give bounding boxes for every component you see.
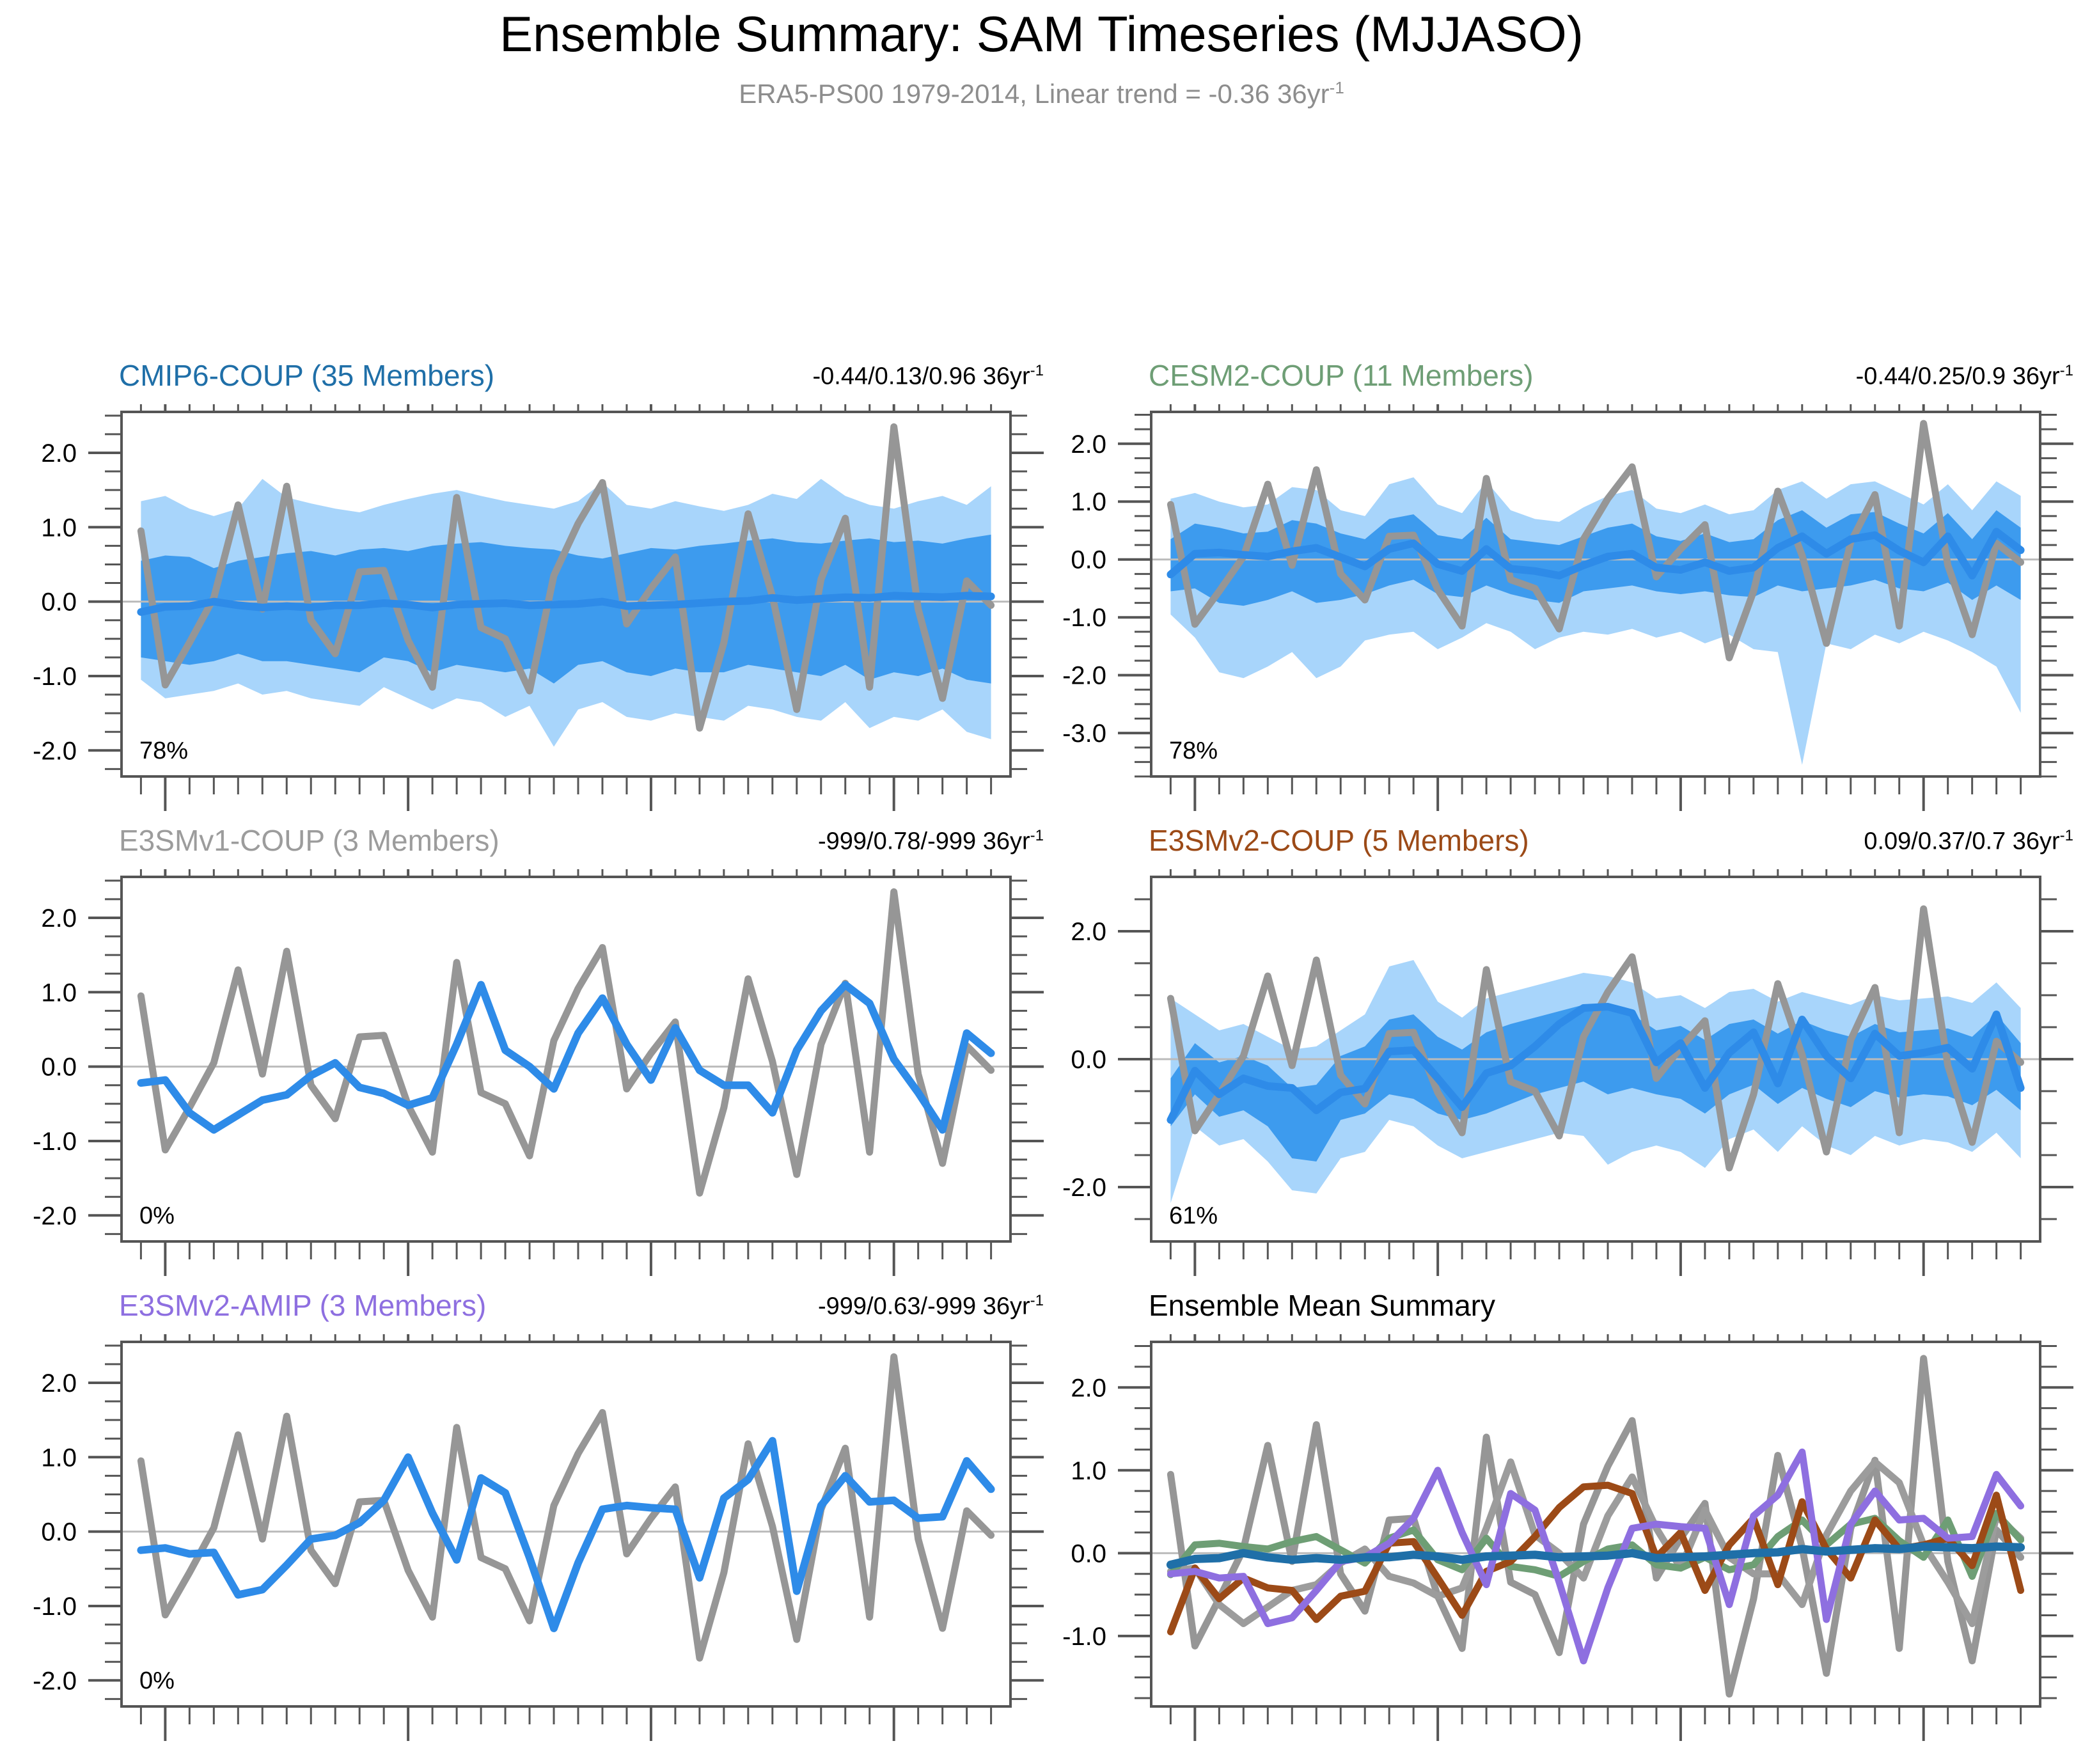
panel-trend-value-cesm2: -0.44/0.25/0.9 36yr: [1856, 363, 2060, 390]
series-line-ensemble-mean: [141, 1441, 991, 1628]
agreement-percent-cmip6: 78%: [139, 737, 188, 764]
plot-clip-mask: [26, 1706, 1049, 1749]
subtitle-superscript: -1: [1330, 78, 1344, 97]
agreement-percent-cesm2: 78%: [1169, 737, 1218, 764]
y-tick-label: 1.0: [1071, 488, 1106, 516]
panel-cmip6: CMIP6-COUP (35 Members)-0.44/0.13/0.96 3…: [26, 358, 1049, 819]
plot-clip-mask: [26, 1241, 1049, 1284]
panel-grid: CMIP6-COUP (35 Members)-0.44/0.13/0.96 3…: [0, 358, 2083, 1752]
panel-header-e3smv2amip: E3SMv2-AMIP (3 Members)-999/0.63/-999 36…: [26, 1288, 1049, 1334]
plot-clip-mask: [2040, 404, 2079, 819]
page-subtitle: ERA5-PS00 1979-2014, Linear trend = -0.3…: [0, 78, 2083, 109]
page-title: Ensemble Summary: SAM Timeseries (MJJASO…: [0, 5, 2083, 63]
panel-e3smv1: E3SMv1-COUP (3 Members)-999/0.78/-999 36…: [26, 823, 1049, 1284]
y-tick-label: 0.0: [41, 1053, 77, 1082]
panel-trend-e3smv2amip: -999/0.63/-999 36yr-1: [818, 1292, 1044, 1321]
y-tick-label: -2.0: [1062, 662, 1106, 690]
panel-trend-e3smv2coup: 0.09/0.37/0.7 36yr-1: [1864, 827, 2073, 856]
panel-header-cmip6: CMIP6-COUP (35 Members)-0.44/0.13/0.96 3…: [26, 358, 1049, 404]
y-tick-label: 0.0: [1071, 546, 1106, 574]
y-tick-label: -1.0: [33, 1128, 77, 1156]
plot-clip-mask: [1055, 1241, 2079, 1284]
plot-clip-mask: [26, 776, 1049, 819]
panel-trend-superscript-e3smv2coup: -1: [2060, 827, 2073, 844]
plot-area-cmip6: 2.01.00.0-1.0-2.0198019902000201078%: [26, 404, 1049, 819]
plot-area-cesm2: 2.01.00.0-1.0-2.0-3.0198019902000201078%: [1055, 404, 2079, 819]
panel-title-cesm2: CESM2-COUP (11 Members): [1149, 358, 1534, 393]
y-tick-label: -2.0: [33, 1202, 77, 1230]
y-tick-label: -2.0: [1062, 1174, 1106, 1202]
panel-summary: Ensemble Mean Summary2.01.00.0-1.0198019…: [1055, 1288, 2079, 1749]
agreement-percent-e3smv2coup: 61%: [1169, 1202, 1218, 1229]
y-tick-label: 0.0: [41, 1518, 77, 1547]
agreement-percent-e3smv2amip: 0%: [139, 1667, 175, 1694]
plot-area-e3smv1: 2.01.00.0-1.0-2.019801990200020100%: [26, 869, 1049, 1284]
y-tick-label: 1.0: [41, 979, 77, 1007]
y-tick-label: 0.0: [1071, 1540, 1106, 1568]
y-tick-label: -1.0: [1062, 604, 1106, 632]
plot-area-summary: 2.01.00.0-1.01980199020002010: [1055, 1334, 2079, 1749]
panel-trend-superscript-e3smv1: -1: [1030, 827, 1044, 844]
panel-trend-cmip6: -0.44/0.13/0.96 36yr-1: [813, 362, 1044, 391]
y-tick-label: -1.0: [33, 663, 77, 691]
y-tick-label: -2.0: [33, 1667, 77, 1695]
subtitle-text: ERA5-PS00 1979-2014, Linear trend = -0.3…: [739, 79, 1329, 109]
series-line-observations: [141, 1357, 991, 1658]
plot-area-e3smv2amip: 2.01.00.0-1.0-2.019801990200020100%: [26, 1334, 1049, 1749]
panel-trend-superscript-cesm2: -1: [2060, 362, 2073, 379]
y-tick-label: -1.0: [1062, 1623, 1106, 1651]
panel-trend-value-e3smv2coup: 0.09/0.37/0.7 36yr: [1864, 828, 2059, 855]
panel-header-cesm2: CESM2-COUP (11 Members)-0.44/0.25/0.9 36…: [1055, 358, 2079, 404]
plot-clip-mask: [1055, 1706, 2079, 1749]
y-tick-label: 2.0: [1071, 430, 1106, 459]
y-tick-label: 1.0: [1071, 1457, 1106, 1485]
y-tick-label: 2.0: [41, 439, 77, 468]
panel-cesm2: CESM2-COUP (11 Members)-0.44/0.25/0.9 36…: [1055, 358, 2079, 819]
panel-trend-cesm2: -0.44/0.25/0.9 36yr-1: [1856, 362, 2073, 391]
panel-e3smv2amip: E3SMv2-AMIP (3 Members)-999/0.63/-999 36…: [26, 1288, 1049, 1749]
panel-header-e3smv2coup: E3SMv2-COUP (5 Members)0.09/0.37/0.7 36y…: [1055, 823, 2079, 869]
panel-title-summary: Ensemble Mean Summary: [1149, 1288, 1495, 1323]
panel-title-e3smv1: E3SMv1-COUP (3 Members): [119, 823, 499, 858]
y-tick-label: 2.0: [1071, 1374, 1106, 1402]
y-tick-label: 1.0: [41, 1444, 77, 1472]
plot-area-e3smv2coup: 2.00.0-2.0198019902000201061%: [1055, 869, 2079, 1284]
series-line-observations: [141, 892, 991, 1193]
panel-header-summary: Ensemble Mean Summary: [1055, 1288, 2079, 1334]
panel-e3smv2coup: E3SMv2-COUP (5 Members)0.09/0.37/0.7 36y…: [1055, 823, 2079, 1284]
plot-clip-mask: [1010, 1334, 1049, 1749]
y-tick-label: 1.0: [41, 514, 77, 542]
y-tick-label: 0.0: [1071, 1046, 1106, 1074]
panel-trend-value-e3smv1: -999/0.78/-999 36yr: [818, 828, 1030, 855]
panel-trend-superscript-cmip6: -1: [1030, 362, 1044, 379]
panel-title-cmip6: CMIP6-COUP (35 Members): [119, 358, 494, 393]
y-tick-label: 2.0: [41, 904, 77, 933]
y-tick-label: -3.0: [1062, 720, 1106, 748]
panel-trend-e3smv1: -999/0.78/-999 36yr-1: [818, 827, 1044, 856]
y-tick-label: 2.0: [1071, 918, 1106, 946]
plot-clip-mask: [1055, 776, 2079, 819]
panel-trend-value-e3smv2amip: -999/0.63/-999 36yr: [818, 1293, 1030, 1320]
plot-clip-mask: [2040, 1334, 2079, 1749]
y-tick-label: -2.0: [33, 737, 77, 765]
agreement-percent-e3smv1: 0%: [139, 1202, 175, 1229]
y-tick-label: 0.0: [41, 588, 77, 617]
panel-title-e3smv2amip: E3SMv2-AMIP (3 Members): [119, 1288, 486, 1323]
panel-trend-superscript-e3smv2amip: -1: [1030, 1292, 1044, 1309]
plot-clip-mask: [1010, 404, 1049, 819]
panel-title-e3smv2coup: E3SMv2-COUP (5 Members): [1149, 823, 1529, 858]
y-tick-label: 2.0: [41, 1369, 77, 1398]
y-tick-label: -1.0: [33, 1593, 77, 1621]
panel-trend-value-cmip6: -0.44/0.13/0.96 36yr: [813, 363, 1030, 390]
chart-page: Ensemble Summary: SAM Timeseries (MJJASO…: [0, 0, 2083, 1764]
plot-clip-mask: [1010, 869, 1049, 1284]
series-line-observations: [1170, 1358, 2020, 1694]
panel-header-e3smv1: E3SMv1-COUP (3 Members)-999/0.78/-999 36…: [26, 823, 1049, 869]
